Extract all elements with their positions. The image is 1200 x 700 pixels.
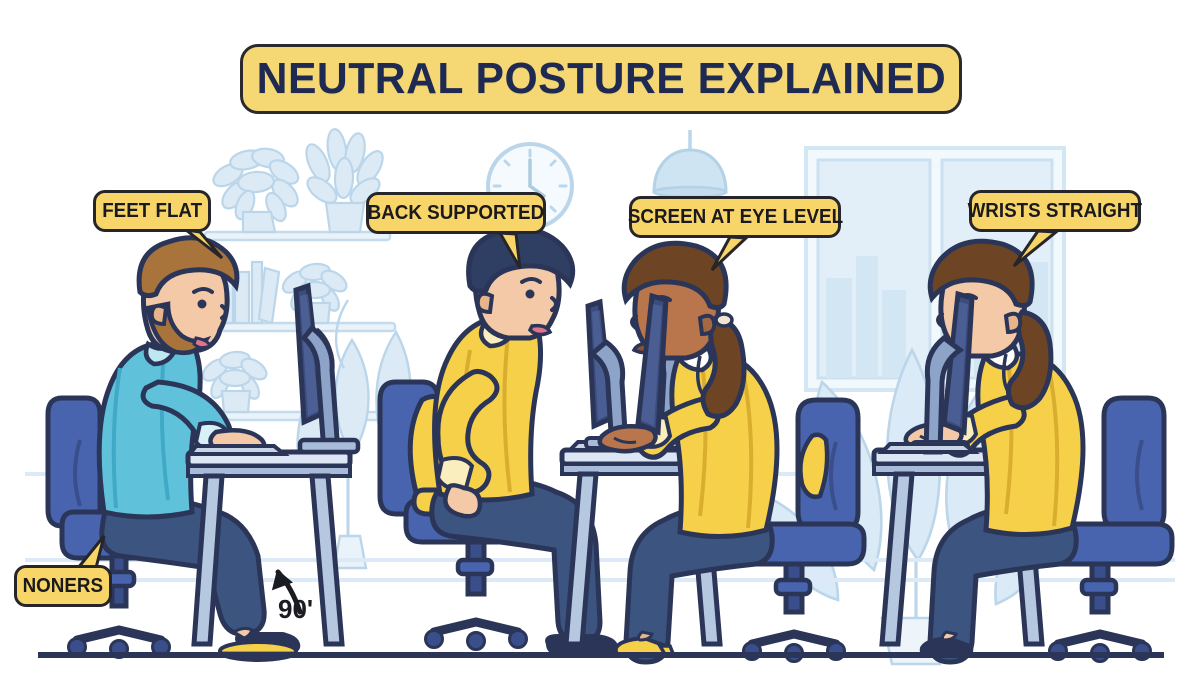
person-1-head [139,238,237,353]
callout-noners[interactable]: NONERS [14,565,112,607]
keyboard-1 [190,446,284,454]
callout-screen-at-eye-level-label: SCREEN AT EYE LEVEL [627,206,842,229]
person-2-head [469,229,573,338]
callout-back-supported[interactable]: BACK SUPPORTED [366,192,546,234]
callout-wrists-straight-label: WRISTS STRAIGHT [968,200,1142,223]
callout-feet-flat[interactable]: FEET FLAT [93,190,211,232]
page-title: NEUTRAL POSTURE EXPLAINED [256,54,946,104]
callout-wrists-straight[interactable]: WRISTS STRAIGHT [969,190,1141,232]
keyboard-4 [882,444,974,452]
tail-screen-eye-level [712,237,746,270]
title-banner: NEUTRAL POSTURE EXPLAINED [240,44,962,114]
wall-shelf-top [205,128,390,240]
callout-noners-label: NONERS [23,575,103,598]
person-2-torso [435,316,541,516]
callout-screen-at-eye-level[interactable]: SCREEN AT EYE LEVEL [629,196,841,238]
person-3-torso [600,344,777,537]
shelf-plant-1 [210,146,303,232]
callout-back-supported-label: BACK SUPPORTED [368,202,545,225]
desk-1 [188,452,350,644]
knee-angle-label: 90' [278,594,313,625]
shelf-plant-3 [279,262,350,323]
callout-feet-flat-label: FEET FLAT [102,200,202,223]
pendant-lamp [654,130,726,197]
